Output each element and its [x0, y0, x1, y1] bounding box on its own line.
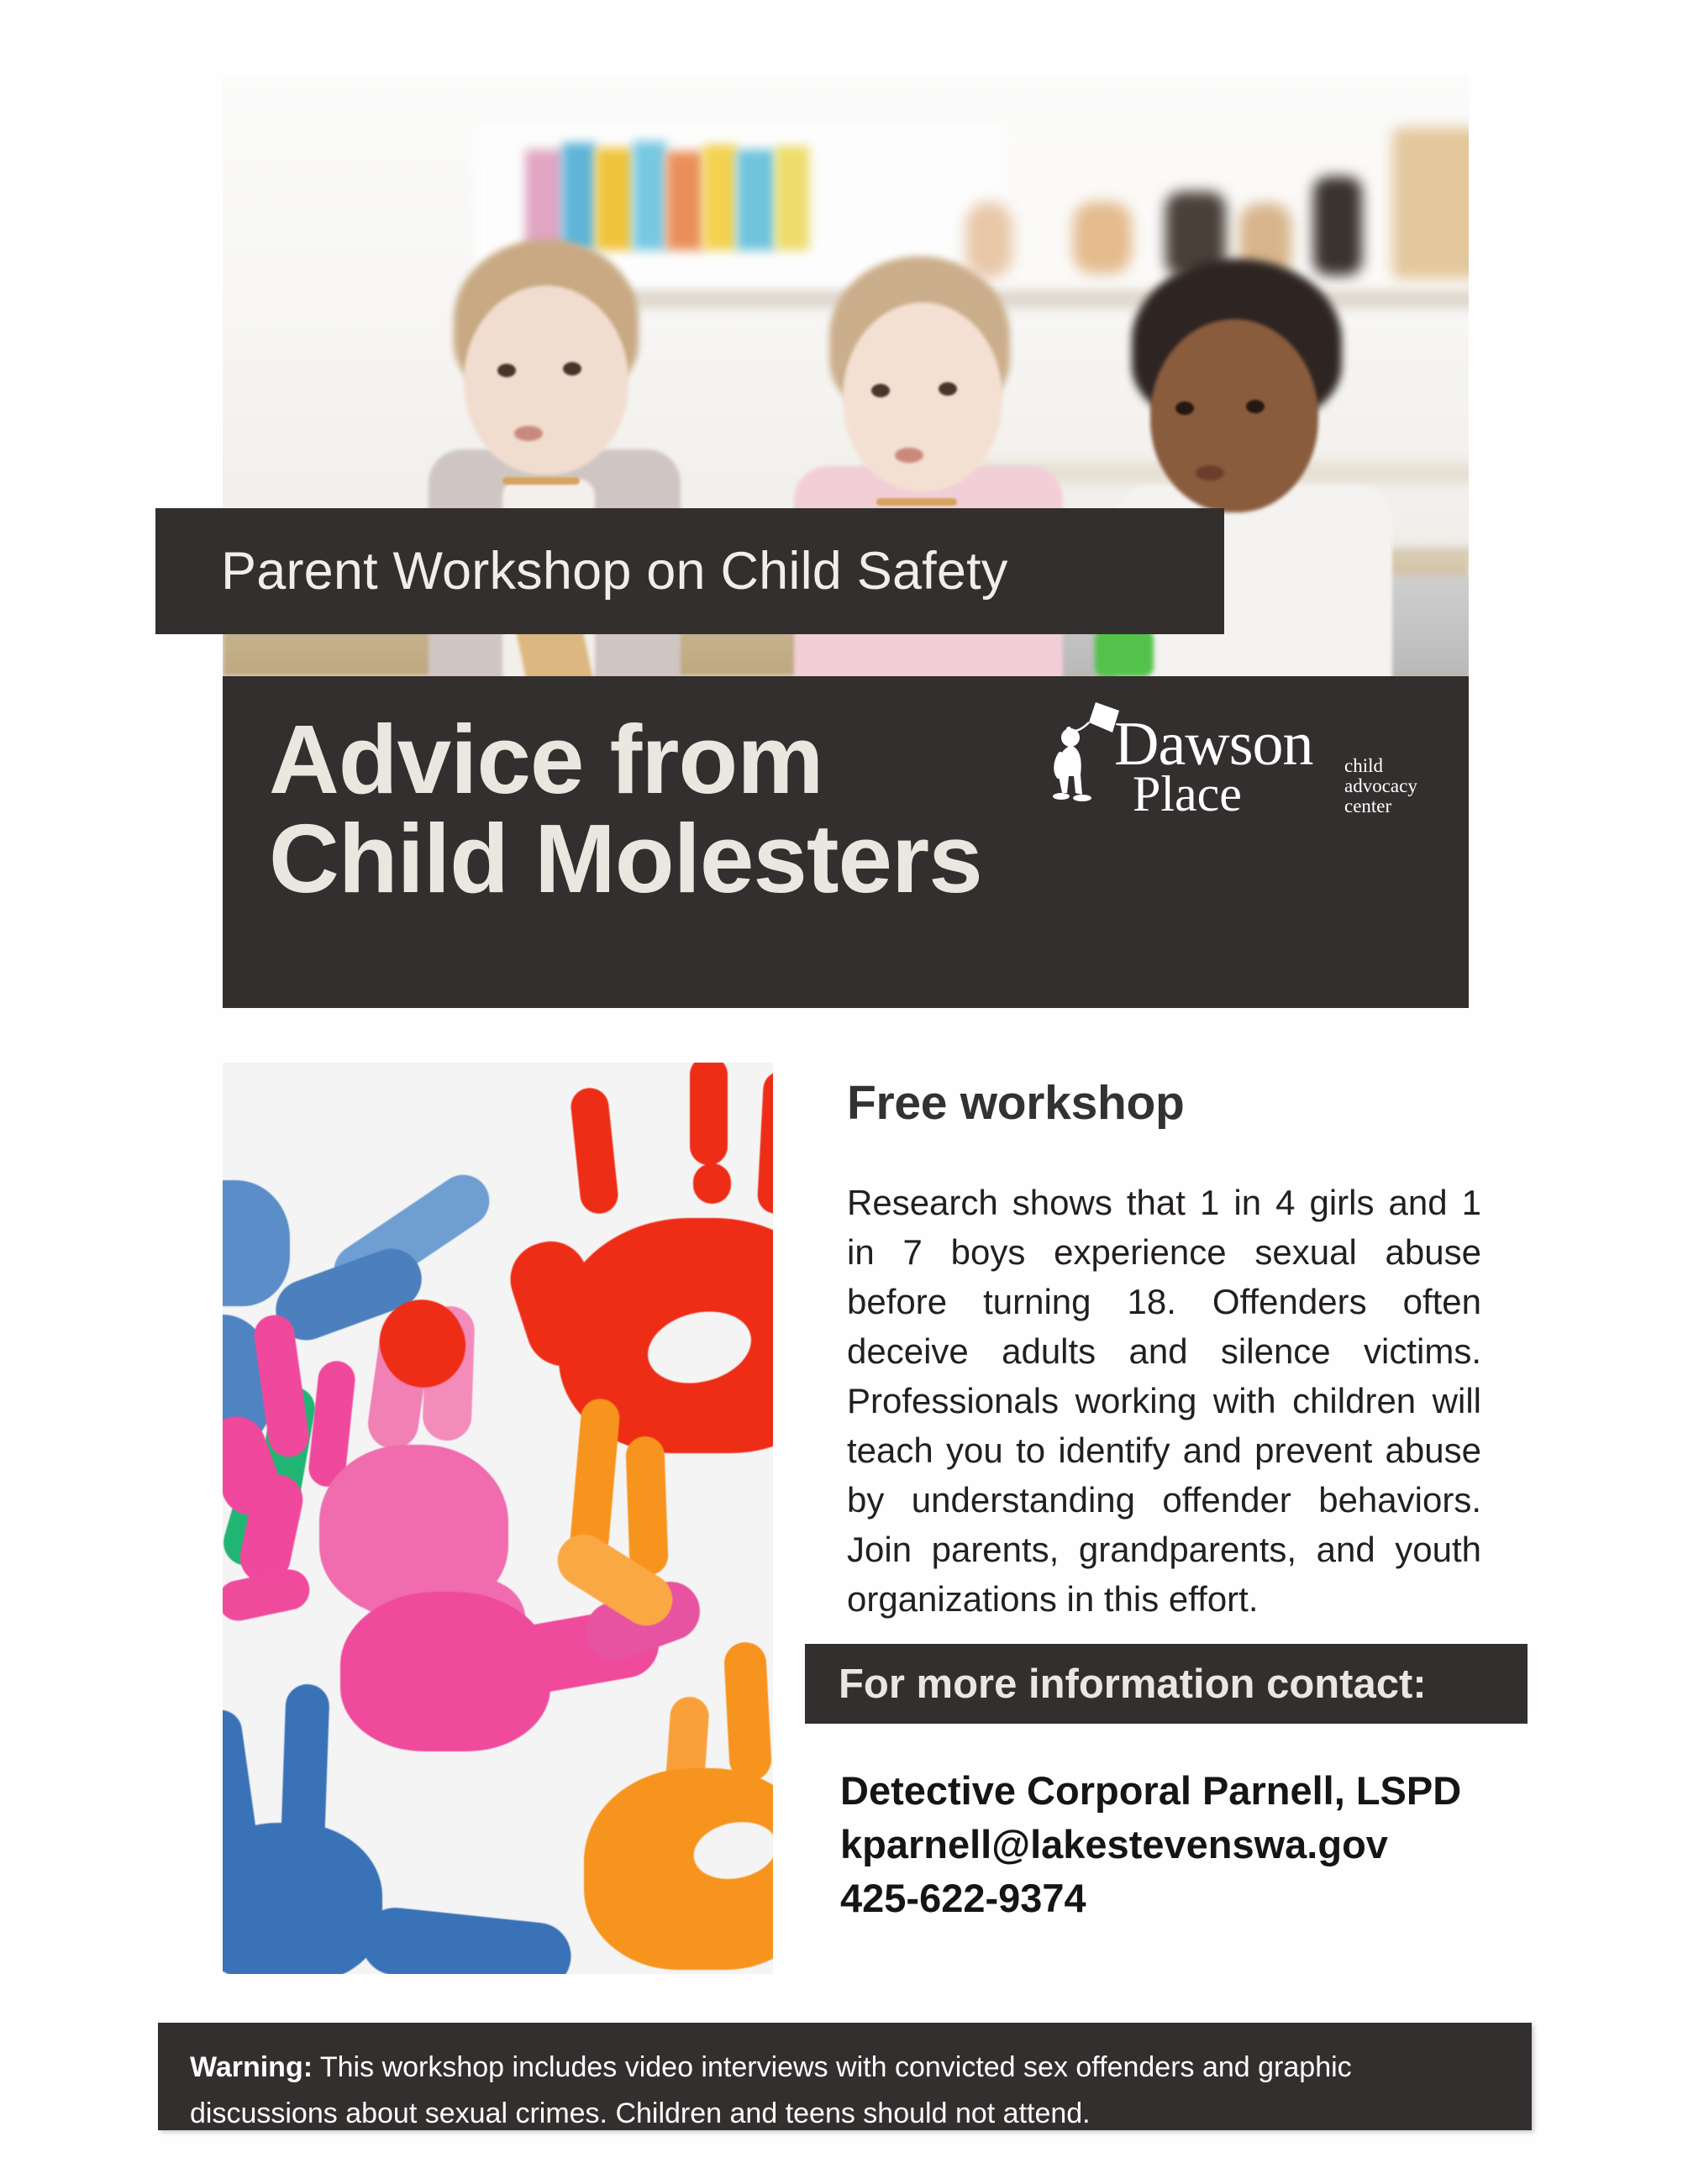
warning-body: This workshop includes video interviews …: [190, 2051, 1352, 2129]
toy-green: [1095, 628, 1154, 676]
logo-tagline-line-2: advocacy: [1344, 776, 1417, 796]
toddler-mouth: [895, 448, 923, 463]
contact-details: Detective Corporal Parnell, LSPD kparnel…: [840, 1764, 1529, 1925]
contact-banner-text: For more information contact:: [805, 1661, 1427, 1708]
contact-phone[interactable]: 425-622-9374: [840, 1872, 1529, 1925]
title-line-1: Advice from: [269, 710, 1101, 809]
photo-book: [703, 144, 737, 250]
section-heading-free-workshop: Free workshop: [847, 1075, 1185, 1131]
logo-wordmark: Dawson Place: [1114, 719, 1313, 818]
handprints-photo: [223, 1063, 773, 1974]
subtitle-banner: Parent Workshop on Child Safety: [155, 508, 1224, 634]
contact-name: Detective Corporal Parnell, LSPD: [840, 1764, 1529, 1818]
photo-book: [596, 148, 633, 250]
warning-banner: Warning: This workshop includes video in…: [158, 2023, 1532, 2130]
warning-text: Warning: This workshop includes video in…: [190, 2045, 1501, 2137]
main-title: Advice from Child Molesters: [269, 710, 1101, 908]
subtitle-text: Parent Workshop on Child Safety: [155, 541, 1008, 601]
child-flying-kite-icon: [1049, 699, 1124, 816]
photo-book: [666, 151, 703, 250]
toddler-mouth: [1196, 465, 1224, 480]
photo-book: [525, 150, 564, 250]
toddler-face: [464, 286, 628, 475]
logo-tagline: child advocacy center: [1344, 756, 1417, 816]
toddler-face: [843, 302, 1002, 491]
toddler-necklace: [502, 477, 580, 485]
toddler-eye: [1175, 402, 1194, 415]
photo-book: [737, 150, 776, 250]
toddler-eye: [939, 382, 957, 396]
photo-toy: [1073, 202, 1132, 274]
photo-toy: [1313, 176, 1362, 276]
dawson-place-logo: Dawson Place child advocacy center: [1049, 714, 1401, 840]
toddler-necklace: [876, 498, 957, 506]
contact-banner: For more information contact:: [805, 1644, 1528, 1724]
logo-tagline-line-3: center: [1344, 796, 1417, 816]
warning-label: Warning:: [190, 2051, 313, 2083]
body-paragraph: Research shows that 1 in 4 girls and 1 i…: [847, 1178, 1481, 1624]
title-banner: Advice from Child Molesters: [223, 676, 1469, 1008]
toddler-eye: [497, 364, 516, 377]
title-line-2: Child Molesters: [269, 809, 1101, 908]
toddler-face: [1150, 319, 1318, 512]
toddler-eye: [871, 384, 890, 397]
logo-name-line-1: Dawson: [1114, 719, 1313, 769]
logo-tagline-line-1: child: [1344, 756, 1417, 776]
photo-toy: [1392, 128, 1469, 279]
photo-book: [633, 141, 666, 250]
photo-book: [562, 143, 596, 250]
flyer-page: Parent Workshop on Child Safety Advice f…: [0, 0, 1688, 2184]
toddler-mouth: [514, 426, 543, 441]
toddler-eye: [563, 362, 581, 375]
contact-email[interactable]: kparnell@lakestevenswa.gov: [840, 1818, 1529, 1872]
toddler-eye: [1246, 400, 1265, 413]
photo-book: [776, 146, 809, 250]
